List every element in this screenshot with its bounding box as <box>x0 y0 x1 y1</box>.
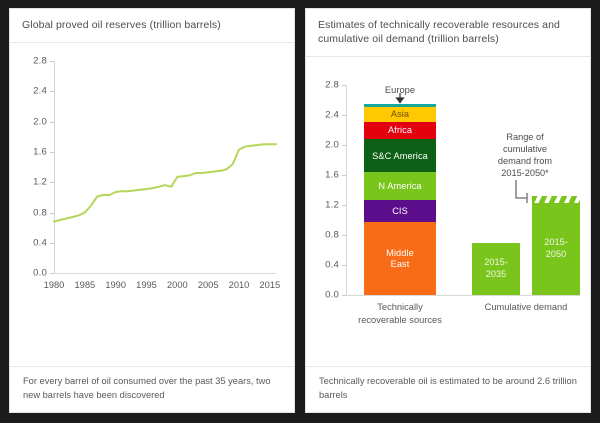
line-chart: 0.00.40.81.21.62.02.42.81980198519901995… <box>16 47 284 309</box>
bar-y-tick-label: 0.8 <box>325 230 339 241</box>
europe-arrow-icon <box>395 93 405 104</box>
panel-recoverable-and-demand: Estimates of technically recoverable res… <box>305 8 591 413</box>
bar-cumulative-demand-2015-2050[interactable]: 2015-2050 <box>532 203 580 295</box>
bar-cumulative-demand-2015-2035[interactable]: 2015-2035 <box>472 243 520 296</box>
stack-segment-label: S&C America <box>372 151 428 162</box>
bar-y-tick-label: 0.4 <box>325 260 339 271</box>
right-chart-area: 0.00.40.81.21.62.02.42.8MiddleEastCISN A… <box>306 57 590 366</box>
bar-x-axis <box>346 295 580 296</box>
bar-technically-recoverable-sources[interactable]: MiddleEastCISN AmericaS&C AmericaAfricaA… <box>364 104 436 295</box>
bar-y-tick-label: 1.2 <box>325 200 339 211</box>
demand-bar-period-label: 2015-2050 <box>532 237 580 260</box>
stack-segment-label: MiddleEast <box>386 248 414 269</box>
stack-segment-middle-east[interactable]: MiddleEast <box>364 222 436 296</box>
stack-segment-label: CIS <box>392 206 408 217</box>
line-series-svg <box>16 47 284 309</box>
left-chart-area: 0.00.40.81.21.62.02.42.81980198519901995… <box>10 43 294 366</box>
bar-y-tick-label: 1.6 <box>325 170 339 181</box>
bar-y-tick-label: 0.0 <box>325 290 339 301</box>
stack-segment-n-america[interactable]: N America <box>364 172 436 200</box>
stack-segment-label: Africa <box>388 125 412 136</box>
stacked-bar-chart: 0.00.40.81.21.62.02.42.8MiddleEastCISN A… <box>308 63 586 335</box>
left-panel-footnote: For every barrel of oil consumed over th… <box>10 366 294 412</box>
bar-y-tick-label: 2.0 <box>325 140 339 151</box>
x-category-label-cumulative-demand: Cumulative demand <box>461 301 591 314</box>
x-category-label-technically-recoverable: Technicallyrecoverable sources <box>345 301 455 326</box>
stack-segment-label: Asia <box>391 109 409 120</box>
range-of-demand-callout: Range of cumulative demand from 2015-205… <box>482 132 568 180</box>
right-panel-title: Estimates of technically recoverable res… <box>306 9 590 57</box>
stack-segment-cis[interactable]: CIS <box>364 200 436 222</box>
bar-y-tick-label: 2.8 <box>325 80 339 91</box>
stack-segment-asia[interactable]: Asia <box>364 107 436 122</box>
stack-segment-europe[interactable] <box>364 104 436 107</box>
stack-segment-s-c-america[interactable]: S&C America <box>364 139 436 172</box>
demand-bar-period-label: 2015-2035 <box>472 257 520 280</box>
right-panel-footnote: Technically recoverable oil is estimated… <box>306 366 590 412</box>
left-panel-title: Global proved oil reserves (trillion bar… <box>10 9 294 43</box>
stack-segment-label: N America <box>378 181 421 192</box>
range-bracket-icon <box>514 180 540 210</box>
panel-global-proved-reserves: Global proved oil reserves (trillion bar… <box>9 8 295 413</box>
bar-y-axis <box>346 85 347 295</box>
stack-segment-africa[interactable]: Africa <box>364 122 436 139</box>
infographic-root: Global proved oil reserves (trillion bar… <box>0 0 600 423</box>
line-series-global-proved-reserves <box>54 144 276 221</box>
bar-y-tick-label: 2.4 <box>325 110 339 121</box>
